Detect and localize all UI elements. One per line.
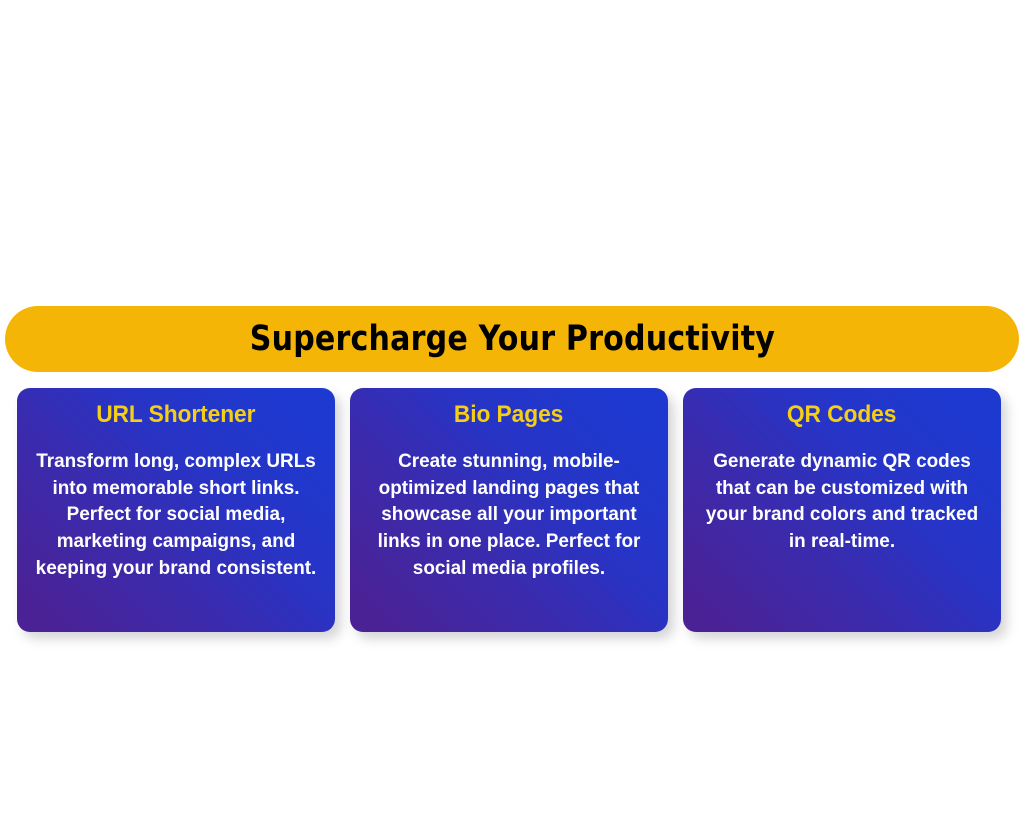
page-root: Supercharge Your Productivity URL Shorte… [0,0,1024,819]
feature-card-qr-codes[interactable]: QR Codes Generate dynamic QR codes that … [683,388,1001,632]
feature-card-description: Generate dynamic QR codes that can be cu… [701,448,982,554]
page-title: Supercharge Your Productivity [249,322,774,357]
feature-card-title: Bio Pages [454,402,563,427]
feature-card-bio-pages[interactable]: Bio Pages Create stunning, mobile-optimi… [350,388,668,632]
feature-card-url-shortener[interactable]: URL Shortener Transform long, complex UR… [17,388,335,632]
feature-card-list: URL Shortener Transform long, complex UR… [17,388,1001,632]
feature-card-description: Create stunning, mobile-optimized landin… [368,448,649,581]
section-banner: Supercharge Your Productivity [5,306,1019,372]
feature-card-title: QR Codes [787,402,896,427]
feature-card-description: Transform long, complex URLs into memora… [35,448,316,581]
feature-card-title: URL Shortener [96,402,255,427]
